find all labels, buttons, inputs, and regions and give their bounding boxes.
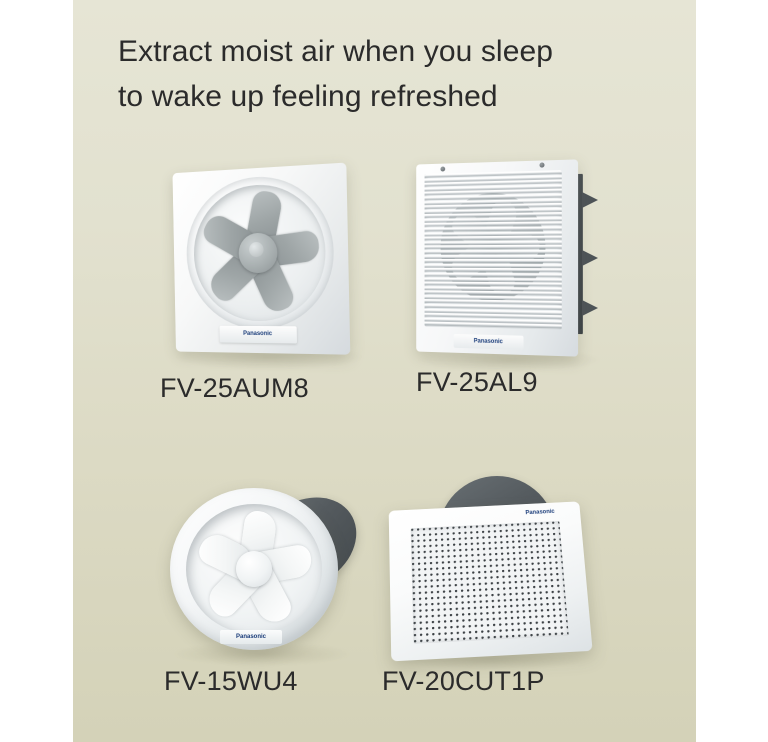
- product-card-fv-15wu4: Panasonic FV-15WU4: [170, 478, 380, 708]
- fan-hub: [236, 551, 272, 587]
- louver-slat: [425, 268, 562, 272]
- page-title: Extract moist air when you sleep to wake…: [118, 29, 678, 119]
- louver-slat: [425, 282, 562, 286]
- panasonic-logo: Panasonic: [517, 508, 562, 518]
- mesh-grille: [411, 521, 569, 644]
- louver-slat: [425, 255, 562, 258]
- logo-plate: Panasonic: [219, 326, 297, 344]
- mount-screw: [440, 167, 445, 172]
- bracket-fin: [582, 192, 598, 208]
- panasonic-logo: Panasonic: [231, 330, 285, 339]
- logo-plate: Panasonic: [454, 334, 524, 350]
- fan-ring: Panasonic: [170, 488, 338, 650]
- louver-slat: [425, 236, 562, 240]
- louver-grille: [425, 170, 562, 329]
- bracket-fin: [582, 300, 598, 316]
- product-label-fv-25aum8: FV-25AUM8: [160, 373, 309, 403]
- louver-slat: [425, 250, 562, 253]
- panasonic-logo: Panasonic: [463, 337, 513, 346]
- louver-slat: [425, 264, 562, 267]
- product-card-fv-25aum8: Panasonic FV-25AUM8: [168, 168, 368, 408]
- bracket-fin: [582, 250, 598, 266]
- louver-slat: [425, 277, 562, 281]
- panasonic-logo: Panasonic: [228, 633, 274, 641]
- ceiling-bezel: Panasonic: [389, 501, 593, 661]
- fan-housing: Panasonic: [416, 159, 578, 356]
- product-label-fv-20cut1p: FV-20CUT1P: [382, 666, 545, 696]
- louver-slat: [425, 240, 562, 244]
- louver-slat: [425, 231, 562, 235]
- product-label-fv-15wu4: FV-15WU4: [164, 666, 298, 696]
- product-image-fv-25al9: Panasonic: [412, 162, 612, 362]
- louver-slats: [425, 170, 562, 329]
- poster-canvas: Extract moist air when you sleep to wake…: [0, 0, 768, 742]
- fan-housing: Panasonic: [172, 163, 350, 355]
- product-label-fv-25al9: FV-25AL9: [416, 367, 538, 397]
- product-image-fv-25aum8: Panasonic: [168, 168, 358, 358]
- product-image-fv-20cut1p: Panasonic: [382, 472, 597, 662]
- louver-slat: [425, 273, 562, 277]
- mount-screw: [539, 162, 544, 167]
- product-card-fv-25al9: Panasonic FV-25AL9: [412, 162, 622, 408]
- louver-slat: [425, 222, 562, 227]
- logo-plate: Panasonic: [220, 630, 282, 644]
- louver-slat: [425, 245, 562, 248]
- product-image-fv-15wu4: Panasonic: [170, 478, 365, 658]
- louver-slat: [425, 226, 562, 230]
- fan-throat: [186, 504, 322, 634]
- product-card-fv-20cut1p: Panasonic FV-20CUT1P: [382, 472, 612, 708]
- louver-slat: [425, 259, 562, 262]
